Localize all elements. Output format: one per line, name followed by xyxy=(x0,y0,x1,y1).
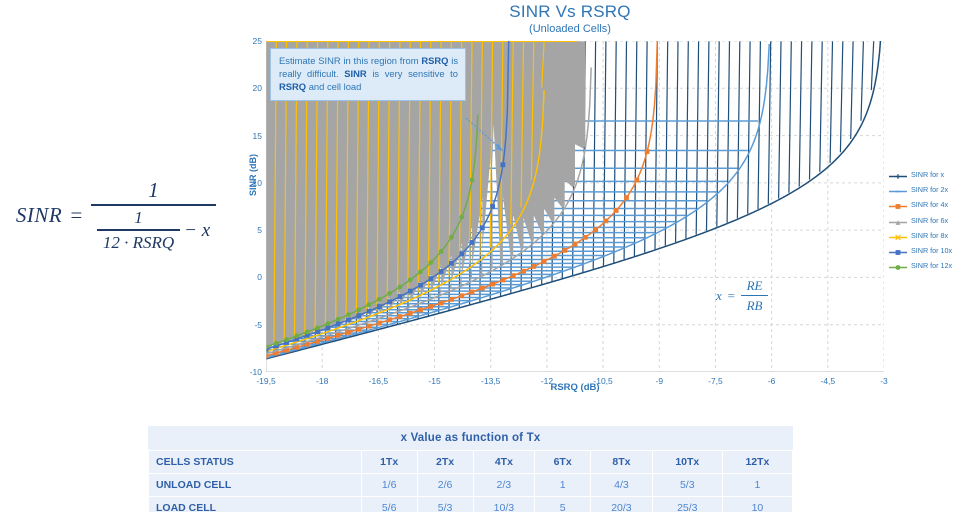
chart-legend: SINR for x SINR for 2x SINR for 4x SINR … xyxy=(888,167,962,273)
legend-item[interactable]: SINR for 8x xyxy=(888,228,962,243)
table-column-header: 12Tx xyxy=(722,451,792,474)
legend-marker-icon xyxy=(888,245,908,256)
table-cell: 2/3 xyxy=(473,474,535,497)
x-value-table: x Value as function of Tx CELLS STATUS1T… xyxy=(148,426,793,512)
annotation-text-3: is very sensitive to xyxy=(367,68,458,79)
annotation-bold-sinr: SINR xyxy=(344,68,366,79)
y-tick-label: -5 xyxy=(254,320,262,330)
legend-marker-icon xyxy=(888,230,908,241)
formula-outer-numerator: 1 xyxy=(91,178,216,204)
table-cell: 5/3 xyxy=(417,497,473,512)
table-cell: 10 xyxy=(722,497,792,512)
x-definition-formula: x = RE RB xyxy=(716,278,768,314)
x-axis-label: RSRQ (dB) xyxy=(266,382,884,393)
legend-label: SINR for 2x xyxy=(911,185,948,194)
y-tick-label: 5 xyxy=(257,225,262,235)
annotation-text-4: and cell load xyxy=(306,81,361,92)
legend-marker-icon xyxy=(888,169,908,180)
x-formula-denominator: RB xyxy=(741,295,769,314)
legend-item[interactable]: SINR for 10x xyxy=(888,243,962,258)
annotation-text-1: Estimate SINR in this region from xyxy=(279,55,421,66)
x-formula-numerator: RE xyxy=(741,278,769,295)
table-caption: x Value as function of Tx xyxy=(148,426,793,450)
formula-inner-numerator: 1 xyxy=(97,208,180,229)
table-cell: 5 xyxy=(535,497,591,512)
formula-outer-denominator: 1 12 · RSRQ − x xyxy=(91,204,216,253)
table-header-row: CELLS STATUS1Tx2Tx4Tx6Tx8Tx10Tx12Tx xyxy=(149,451,793,474)
annotation-bold-rsrq-1: RSRQ xyxy=(421,55,448,66)
x-formula-equals: = xyxy=(727,288,736,304)
table-head: CELLS STATUS1Tx2Tx4Tx6Tx8Tx10Tx12Tx xyxy=(149,451,793,474)
annotation-callout: Estimate SINR in this region from RSRQ i… xyxy=(270,48,466,101)
table-row: UNLOAD CELL1/62/62/314/35/31 xyxy=(149,474,793,497)
table-column-header: 2Tx xyxy=(417,451,473,474)
formula-lhs: SINR xyxy=(16,203,62,228)
formula-inner-fraction: 1 12 · RSRQ xyxy=(97,208,180,253)
legend-marker-icon xyxy=(888,184,908,195)
table-column-header: 6Tx xyxy=(535,451,591,474)
y-tick-label: 25 xyxy=(253,36,262,46)
y-tick-label: 20 xyxy=(253,83,262,93)
slide-root: SINR = 1 1 12 · RSRQ − x SINR Vs RSRQ (U… xyxy=(0,0,962,512)
table-cell: 5/6 xyxy=(361,497,417,512)
legend-marker-icon xyxy=(888,199,908,210)
annotation-bold-rsrq-2: RSRQ xyxy=(279,81,306,92)
table-cell: 1 xyxy=(535,474,591,497)
chart-subtitle: (Unloaded Cells) xyxy=(370,23,770,35)
table-column-header: CELLS STATUS xyxy=(149,451,362,474)
table-cell: 4/3 xyxy=(591,474,653,497)
table-column-header: 4Tx xyxy=(473,451,535,474)
sinr-formula: SINR = 1 1 12 · RSRQ − x xyxy=(0,178,232,253)
table-column-header: 1Tx xyxy=(361,451,417,474)
table-cell: 1 xyxy=(722,474,792,497)
legend-label: SINR for 12x xyxy=(911,261,952,270)
legend-marker-icon xyxy=(888,260,908,271)
table-column-header: 10Tx xyxy=(652,451,722,474)
formula-outer-fraction: 1 1 12 · RSRQ − x xyxy=(91,178,216,253)
y-tick-label: 15 xyxy=(253,131,262,141)
table-row-label: LOAD CELL xyxy=(149,497,362,512)
table-row: LOAD CELL5/65/310/3520/325/310 xyxy=(149,497,793,512)
legend-item[interactable]: SINR for 12x xyxy=(888,258,962,273)
legend-label: SINR for x xyxy=(911,170,944,179)
y-axis-label: SINR (dB) xyxy=(248,154,258,196)
x-formula-fraction: RE RB xyxy=(741,278,769,314)
formula-equals: = xyxy=(69,203,84,228)
table-cell: 10/3 xyxy=(473,497,535,512)
legend-label: SINR for 4x xyxy=(911,200,948,209)
legend-label: SINR for 10x xyxy=(911,246,952,255)
x-value-table-wrapper: x Value as function of Tx CELLS STATUS1T… xyxy=(148,426,793,512)
legend-marker-icon xyxy=(888,215,908,226)
chart-title: SINR Vs RSRQ xyxy=(370,2,770,22)
legend-item[interactable]: SINR for 2x xyxy=(888,182,962,197)
legend-item[interactable]: SINR for x xyxy=(888,167,962,182)
table-cell: 20/3 xyxy=(591,497,653,512)
formula-inner-denominator: 12 · RSRQ xyxy=(97,229,180,253)
legend-item[interactable]: SINR for 6x xyxy=(888,213,962,228)
table-row-label: UNLOAD CELL xyxy=(149,474,362,497)
table-cell: 5/3 xyxy=(652,474,722,497)
table-column-header: 8Tx xyxy=(591,451,653,474)
table-body: UNLOAD CELL1/62/62/314/35/31LOAD CELL5/6… xyxy=(149,474,793,512)
legend-label: SINR for 6x xyxy=(911,216,948,225)
table-cell: 2/6 xyxy=(417,474,473,497)
table-cell: 25/3 xyxy=(652,497,722,512)
legend-item[interactable]: SINR for 4x xyxy=(888,197,962,212)
x-formula-lhs: x xyxy=(716,288,722,304)
table-cell: 1/6 xyxy=(361,474,417,497)
formula-minus-x: − x xyxy=(180,220,210,242)
legend-label: SINR for 8x xyxy=(911,231,948,240)
y-tick-label: 0 xyxy=(257,272,262,282)
